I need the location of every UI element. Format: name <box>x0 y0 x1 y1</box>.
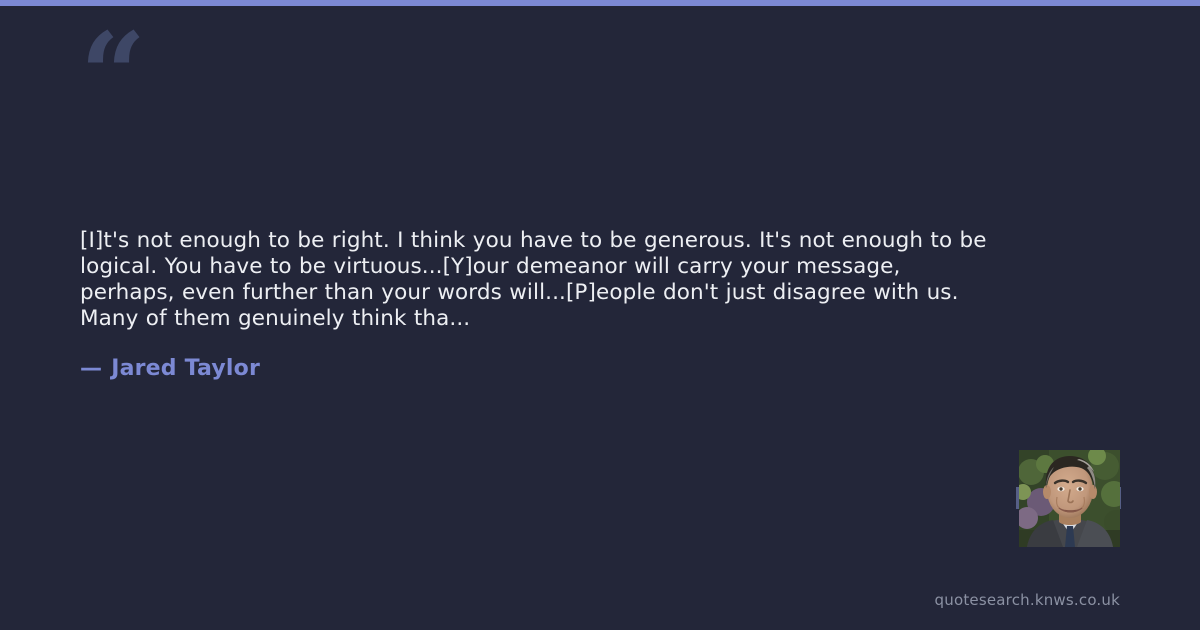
quotation-mark-icon: “ <box>80 18 144 133</box>
quote-text: [I]t's not enough to be right. I think y… <box>80 228 990 332</box>
author-name: Jared Taylor <box>111 356 260 381</box>
source-url: quotesearch.knws.co.uk <box>935 590 1120 610</box>
attribution: —Jared Taylor <box>80 355 260 383</box>
top-accent-bar <box>0 0 1200 6</box>
author-portrait <box>1019 450 1120 547</box>
author-portrait-image <box>1019 450 1120 547</box>
attribution-dash: — <box>80 356 102 381</box>
quote-card: “ [I]t's not enough to be right. I think… <box>0 0 1200 630</box>
